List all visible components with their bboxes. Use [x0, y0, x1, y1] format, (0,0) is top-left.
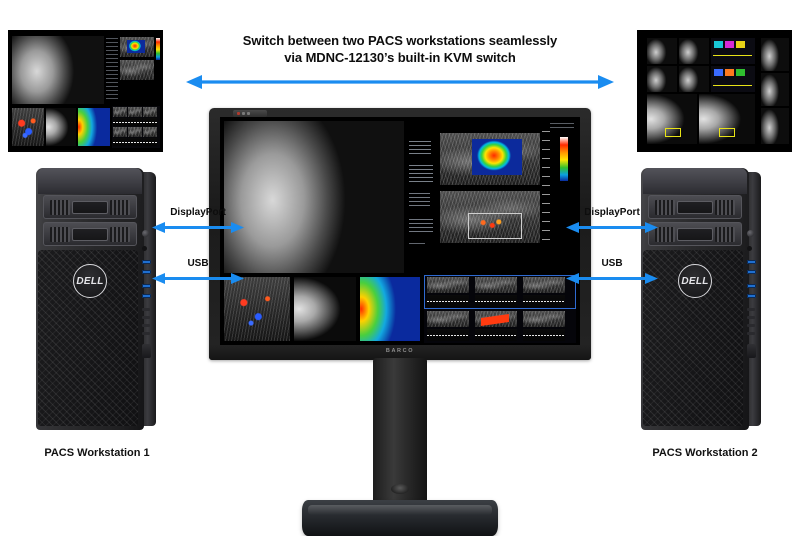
displayport-arrow [566, 221, 658, 234]
tower-front-panel: DELL [36, 168, 144, 430]
usb-c-port-1[interactable] [747, 308, 755, 311]
drive-bay-1[interactable] [648, 195, 742, 219]
monitor-screen[interactable] [220, 117, 580, 345]
usb-port-1[interactable] [142, 260, 151, 264]
elastography-overlay [472, 139, 522, 175]
usb-c-port-3[interactable] [747, 324, 755, 327]
dell-logo: DELL [73, 264, 107, 298]
thumb-waveform-grid [112, 106, 160, 148]
usb-port-4[interactable] [142, 294, 151, 298]
power-button[interactable] [747, 230, 754, 237]
tower-side-panel [747, 172, 761, 426]
barco-monitor[interactable]: BARCO [209, 108, 591, 428]
usb-arrow [152, 272, 244, 285]
thumb-color-scale [156, 38, 160, 60]
roi-marker [665, 128, 681, 137]
thumb-ultrasound-2 [120, 60, 154, 80]
roi-marker [719, 128, 735, 137]
power-button[interactable] [142, 230, 149, 237]
drive-bay-2[interactable] [43, 222, 137, 246]
corner-screenshot-right [637, 30, 792, 152]
workstation-tower-left[interactable]: DELL [36, 168, 158, 430]
thumb-mammogram-lateral [46, 108, 76, 146]
sensor-module-icon [233, 110, 267, 117]
thumb-mri-2 [679, 38, 709, 64]
headline-line-1: Switch between two PACS workstations sea… [243, 33, 557, 48]
screen-depth-ruler [542, 131, 550, 245]
thumb-mri-3 [647, 66, 677, 92]
thumb-kinetic-curve-2 [711, 66, 755, 92]
thumb-elastography [127, 40, 145, 53]
screen-corner-annotation [550, 123, 574, 131]
usb-c-port-2[interactable] [747, 316, 755, 319]
thumb-mri-axial-2 [761, 73, 789, 106]
usb-port-2[interactable] [142, 270, 151, 274]
kvm-switch-arrow [186, 74, 614, 90]
usb-port-4[interactable] [747, 294, 756, 298]
screen-mammogram-lateral[interactable] [294, 277, 356, 341]
usb-c-port-4[interactable] [747, 332, 755, 335]
dell-logo: DELL [678, 264, 712, 298]
caption-workstation-left: PACS Workstation 1 [0, 447, 197, 459]
thumb-kinetic-curve-1 [711, 38, 755, 64]
displayport-label: DisplayPort [152, 206, 244, 219]
audio-jack[interactable] [142, 246, 147, 251]
tower-top-cover [38, 168, 142, 194]
screen-perfusion-map[interactable] [360, 277, 420, 341]
card-reader-slot[interactable] [142, 344, 151, 358]
screen-mammogram-main[interactable] [224, 121, 404, 273]
displayport-arrow [152, 221, 244, 234]
drive-bay-1[interactable] [43, 195, 137, 219]
barco-logo: BARCO [209, 348, 591, 354]
monitor-stand-base [302, 500, 498, 536]
usb-c-port-4[interactable] [142, 332, 150, 335]
tower-top-cover [643, 168, 747, 194]
thumb-doppler [12, 108, 44, 146]
thumb-mri-1 [647, 38, 677, 64]
monitor-stand-neck [373, 358, 427, 506]
usb-arrow [566, 272, 658, 285]
corner-screenshot-left [8, 30, 163, 152]
displayport-label: DisplayPort [566, 206, 658, 219]
usb-port-3[interactable] [142, 284, 151, 288]
usb-label: USB [566, 257, 658, 270]
thumb-ultrasound-1 [120, 37, 154, 57]
thumb-mri-axial-1 [761, 38, 789, 71]
connections-left: DisplayPort USB [152, 206, 244, 290]
usb-port-2[interactable] [747, 270, 756, 274]
connections-right: DisplayPort USB [566, 206, 658, 290]
usb-port-3[interactable] [747, 284, 756, 288]
thumb-mri-mip-2 [699, 94, 755, 144]
usb-port-1[interactable] [747, 260, 756, 264]
thumb-mri-4 [679, 66, 709, 92]
workstation-tower-right[interactable]: DELL [641, 168, 763, 430]
screen-ultrasound-doppler[interactable] [440, 191, 540, 243]
audio-jack[interactable] [747, 246, 752, 251]
monitor-bezel [209, 108, 591, 360]
thumb-mammogram [12, 36, 104, 104]
thumb-perfusion [78, 108, 110, 146]
screen-waveform-grid[interactable] [424, 275, 576, 343]
drive-bay-2[interactable] [648, 222, 742, 246]
screen-ultrasound-elastography[interactable] [440, 133, 540, 185]
thumb-mri-mip-1 [647, 94, 697, 144]
caption-workstation-right: PACS Workstation 2 [605, 447, 800, 459]
thumb-mri-axial-3 [761, 108, 789, 144]
screen-study-metadata [406, 123, 436, 273]
usb-label: USB [152, 257, 244, 270]
usb-c-port-2[interactable] [142, 316, 150, 319]
screen-color-scale [560, 137, 568, 181]
thumb-metadata [106, 38, 118, 102]
card-reader-slot[interactable] [747, 344, 756, 358]
usb-c-port-3[interactable] [142, 324, 150, 327]
usb-c-port-1[interactable] [142, 308, 150, 311]
